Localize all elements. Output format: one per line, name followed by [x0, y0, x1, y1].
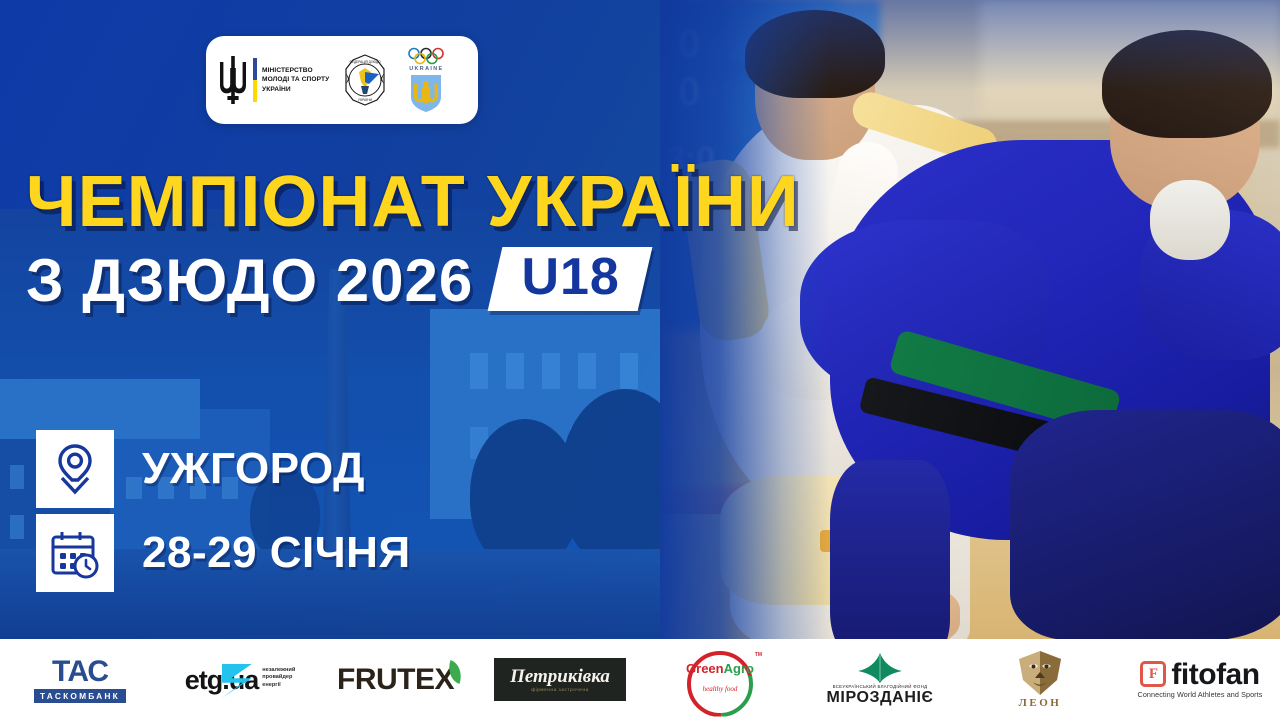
trident-icon — [218, 54, 248, 106]
location-pin-icon — [50, 442, 100, 496]
title-line-1: ЧЕМПІОНАТ УКРАЇНИ — [26, 168, 800, 237]
mirozdaniie-leaf-icon — [858, 653, 902, 683]
svg-text:УКРАЇНИ: УКРАЇНИ — [358, 98, 373, 102]
sponsor-leon[interactable]: ЛЕОН — [960, 639, 1120, 720]
calendar-clock-icon — [49, 527, 101, 579]
ministry-of-youth-and-sports-logo: МІНІСТЕРСТВО МОЛОДІ ТА СПОРТУ УКРАЇНИ — [218, 54, 329, 106]
event-details: УЖГОРОД — [36, 430, 411, 592]
ukraine-shield-icon — [409, 73, 443, 113]
olympic-committee-logo: UKRAINE — [401, 47, 451, 113]
etg-mark: etg.ua — [185, 668, 259, 692]
fitofan-f-icon: F — [1140, 661, 1166, 687]
dates-icon-box — [36, 514, 114, 592]
sponsor-etg-ua[interactable]: etg.ua незалежний провайдер енергії — [160, 639, 320, 720]
etg-tagline: незалежний провайдер енергії — [262, 667, 295, 690]
age-category-label: U18 — [522, 251, 620, 303]
frutex-mark: FRUTEX — [337, 665, 454, 695]
age-category-badge: U18 — [488, 247, 653, 311]
petrykivka-mark: Петриківка — [510, 667, 610, 686]
location-row: УЖГОРОД — [36, 430, 411, 508]
organisation-logo-bar: МІНІСТЕРСТВО МОЛОДІ ТА СПОРТУ УКРАЇНИ ФЕ… — [206, 36, 478, 124]
svg-text:ФЕДЕРАЦІЯ ДЗЮДО: ФЕДЕРАЦІЯ ДЗЮДО — [350, 60, 382, 64]
sponsor-taskombank[interactable]: ТАС ТАСКОМБАНК — [0, 639, 160, 720]
location-icon-box — [36, 430, 114, 508]
mirozdaniie-mark: МІРОЗДАНІЄ — [826, 690, 933, 706]
taskombank-label: ТАСКОМБАНК — [34, 689, 126, 703]
title-line-2: З ДЗЮДО 2026 — [26, 251, 473, 311]
sponsor-petrykivka[interactable]: Петриківка фірменна застрочена — [480, 639, 640, 720]
taskombank-mark: ТАС — [52, 657, 108, 687]
greenagro-mark: GreenAgro — [686, 662, 754, 675]
greenagro-tm: TM — [755, 652, 762, 658]
location-value: УЖГОРОД — [142, 444, 365, 494]
sponsor-frutex[interactable]: FRUTEX — [320, 639, 480, 720]
lion-head-icon — [1015, 650, 1065, 696]
judo-athletes-photo: 0 0 3:0 — [660, 0, 1280, 639]
olympic-rings-icon — [405, 47, 447, 65]
leon-mark: ЛЕОН — [1019, 697, 1062, 709]
sponsor-bar: ТАС ТАСКОМБАНК etg.ua незалежний провайд… — [0, 639, 1280, 720]
petrykivka-tagline: фірменна застрочена — [531, 687, 588, 692]
athlete-blue-gi — [800, 30, 1280, 630]
fitofan-mark: fitofan — [1171, 661, 1259, 688]
dates-row: 28-29 СІЧНЯ — [36, 514, 411, 592]
fitofan-tagline: Connecting World Athletes and Sports — [1138, 690, 1263, 699]
dates-value: 28-29 СІЧНЯ — [142, 528, 411, 578]
ukraine-flag-bar — [253, 58, 257, 102]
event-title-block: ЧЕМПІОНАТ УКРАЇНИ З ДЗЮДО 2026 U18 — [26, 168, 800, 311]
sponsor-mirozdaniie[interactable]: ВСЕУКРАЇНСЬКИЙ БЛАГОДІЙНИЙ ФОНД МІРОЗДАН… — [800, 639, 960, 720]
sponsor-fitofan[interactable]: F fitofan Connecting World Athletes and … — [1120, 639, 1280, 720]
ministry-label: МІНІСТЕРСТВО МОЛОДІ ТА СПОРТУ УКРАЇНИ — [262, 66, 329, 95]
event-poster: 0 0 3:0 — [0, 0, 1280, 720]
sponsor-green-agro[interactable]: TM GreenAgro healthy food — [640, 639, 800, 720]
olympic-ukraine-label: UKRAINE — [409, 66, 443, 72]
greenagro-tagline: healthy food — [703, 685, 738, 693]
judo-federation-emblem: ФЕДЕРАЦІЯ ДЗЮДО УКРАЇНИ — [339, 54, 391, 106]
